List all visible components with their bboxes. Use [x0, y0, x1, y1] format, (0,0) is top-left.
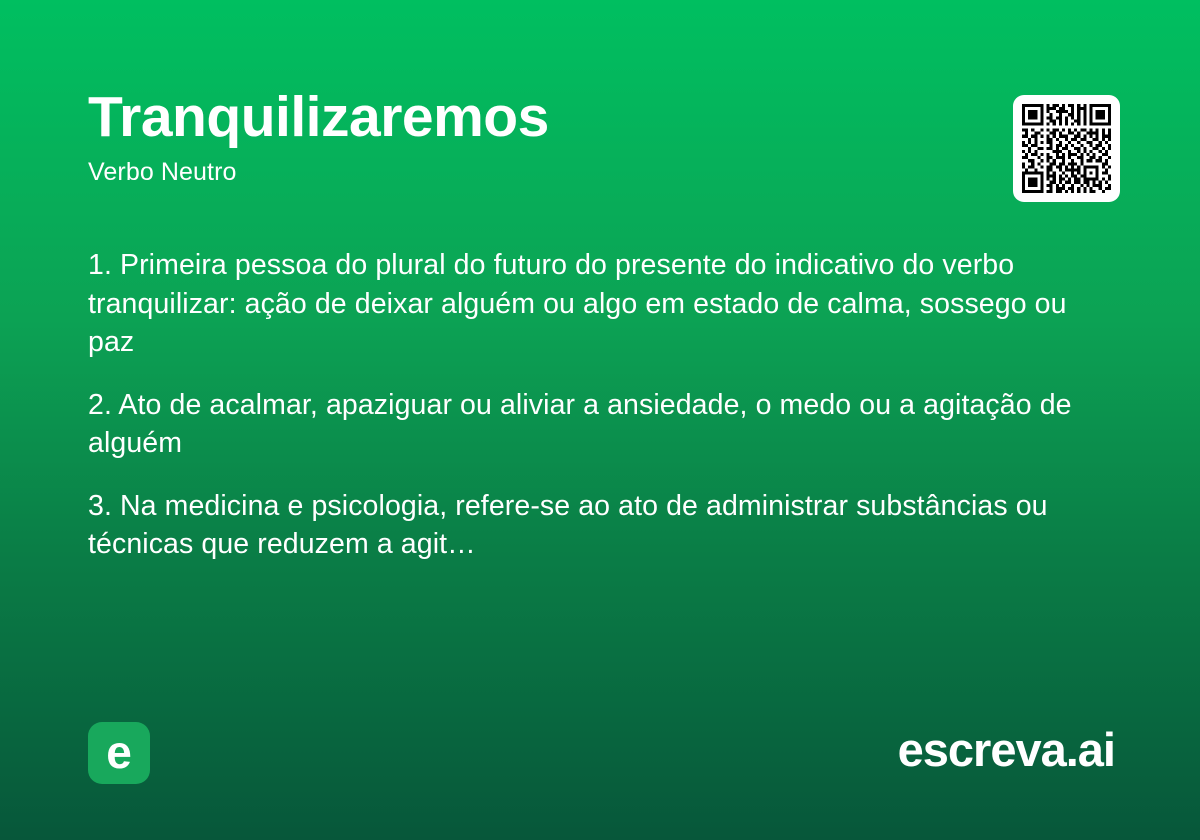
card-header: Tranquilizaremos Verbo Neutro: [88, 88, 968, 187]
definition-item: 3. Na medicina e psicologia, refere-se a…: [88, 487, 1098, 564]
definition-item: 1. Primeira pessoa do plural do futuro d…: [88, 246, 1098, 362]
page-title: Tranquilizaremos: [88, 88, 968, 147]
dictionary-card: Tranquilizaremos Verbo Neutro: [0, 0, 1200, 840]
word-class-subtitle: Verbo Neutro: [88, 157, 968, 187]
qr-code-icon: [1022, 104, 1111, 193]
logo-letter: e: [106, 729, 132, 775]
brand-wordmark: escreva.ai: [898, 724, 1115, 776]
escreva-logo: e: [88, 722, 150, 784]
qr-code-card[interactable]: [1013, 95, 1120, 202]
definition-item: 2. Ato de acalmar, apaziguar ou aliviar …: [88, 386, 1098, 463]
definition-list: 1. Primeira pessoa do plural do futuro d…: [88, 246, 1098, 564]
